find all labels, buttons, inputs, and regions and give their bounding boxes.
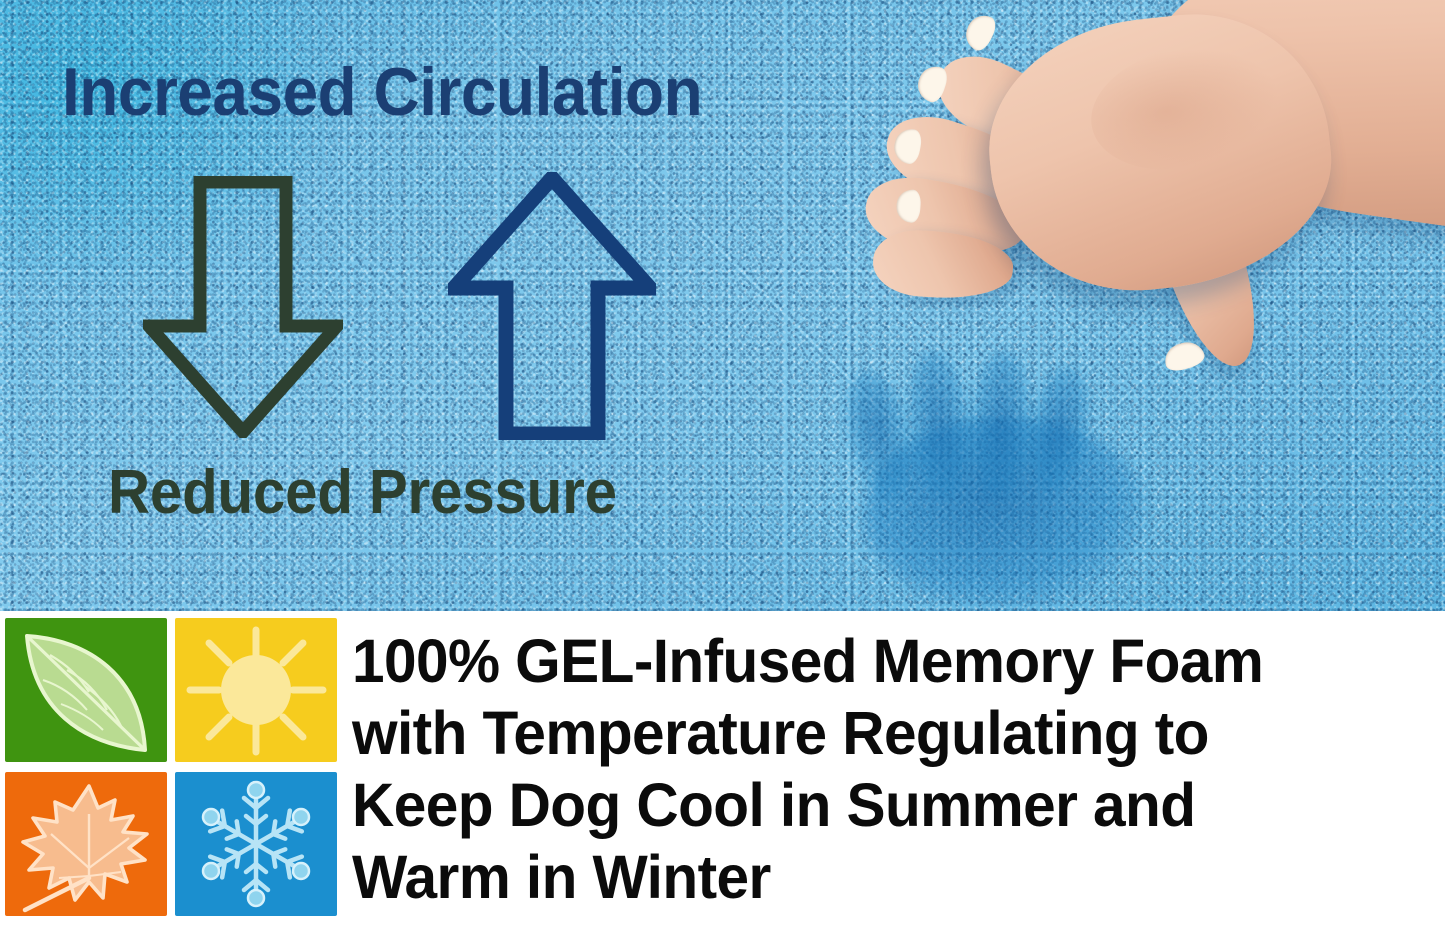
season-tile-winter	[175, 772, 337, 916]
maple-leaf-icon	[5, 772, 167, 916]
gel-foam-feature-banner: Increased Circulation Reduced Pressure	[0, 0, 1445, 927]
snowflake-icon	[175, 772, 337, 916]
caption-text-block: 100% GEL-Infused Memory Foam with Temper…	[352, 625, 1445, 913]
caption-line-4: Warm in Winter	[352, 841, 1401, 913]
human-hand	[840, 0, 1445, 430]
gel-foam-photo: Increased Circulation Reduced Pressure	[0, 0, 1445, 611]
thumbnail	[1161, 338, 1207, 374]
arrow-up-icon	[448, 172, 656, 440]
increased-circulation-label: Increased Circulation	[62, 58, 702, 126]
caption-line-1: 100% GEL-Infused Memory Foam	[352, 625, 1401, 697]
sun-icon	[175, 618, 337, 762]
caption-line-2: with Temperature Regulating to	[352, 697, 1401, 769]
reduced-pressure-label: Reduced Pressure	[108, 462, 617, 524]
season-icon-grid	[5, 618, 337, 920]
season-tile-spring	[5, 618, 167, 762]
season-tile-autumn	[5, 772, 167, 916]
arrow-down-icon	[143, 176, 343, 438]
leaf-icon	[5, 618, 167, 762]
caption-line-3: Keep Dog Cool in Summer and	[352, 769, 1401, 841]
caption-bar: 100% GEL-Infused Memory Foam with Temper…	[0, 611, 1445, 927]
fingernail	[960, 10, 999, 54]
season-tile-summer	[175, 618, 337, 762]
